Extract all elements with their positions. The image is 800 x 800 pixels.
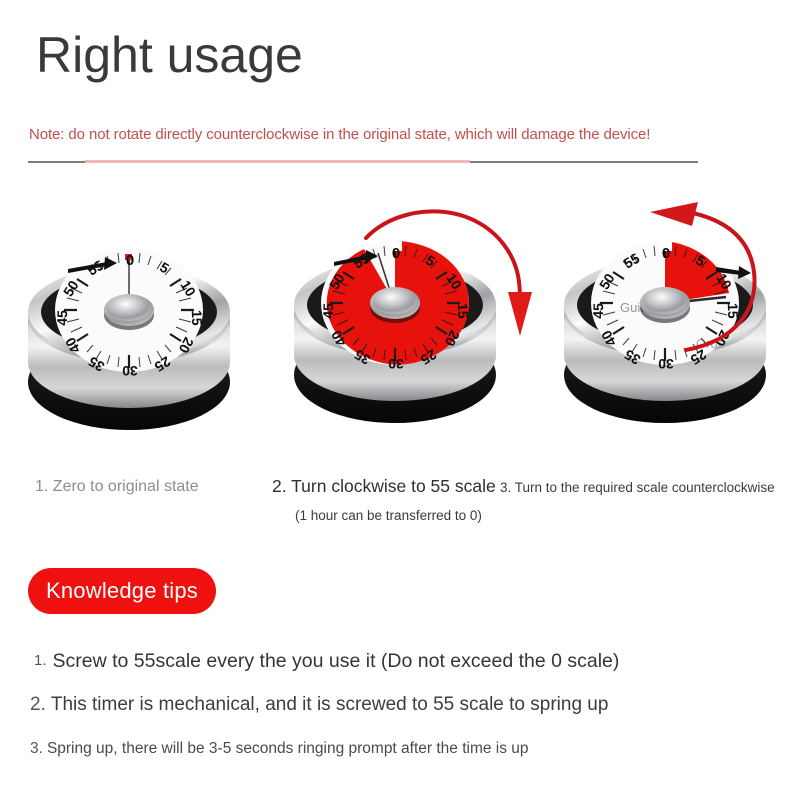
svg-text:30: 30 [388,356,404,372]
tip-number-1: 1. [34,652,47,669]
tip-item-1: 1.Screw to 55scale every the you use it … [34,650,619,673]
tip-number-3: 3. [30,740,43,757]
knowledge-tips-label: Knowledge tips [46,578,198,604]
svg-text:45: 45 [320,303,336,319]
clockwise-arrow-icon [360,196,540,356]
page-title: Right usage [36,28,303,83]
knowledge-tips-badge: Knowledge tips [28,568,216,614]
step-caption-2: 2. Turn clockwise to 55 scale [272,476,496,497]
svg-text:45: 45 [590,303,606,319]
tip-number-2: 2. [30,694,46,715]
header-divider-accent [85,160,470,163]
timer-illustration-step-1: 0 5 10 15 20 25 30 35 40 45 50 55 [12,212,247,452]
svg-text:0: 0 [126,252,134,269]
warning-note: Note: do not rotate directly countercloc… [29,126,650,143]
timer-graphic-1: 0 5 10 15 20 25 30 35 40 45 50 55 [12,212,247,452]
svg-text:45: 45 [54,310,70,326]
svg-text:30: 30 [122,363,138,379]
svg-text:15: 15 [189,310,206,326]
counterclockwise-arrow-icon [630,200,800,380]
step-caption-3: 3. Turn to the required scale counterclo… [500,480,775,495]
step-caption-1: 1. Zero to original state [35,478,199,496]
tip-text-2: This timer is mechanical, and it is scre… [51,694,609,715]
tip-text-1: Screw to 55scale every the you use it (D… [53,650,620,672]
tip-text-3: Spring up, there will be 3-5 seconds rin… [47,740,529,757]
tip-item-2: 2.This timer is mechanical, and it is sc… [30,694,608,716]
tip-item-3: 3.Spring up, there will be 3-5 seconds r… [30,740,529,758]
step-subcaption-2: (1 hour can be transferred to 0) [295,508,482,523]
